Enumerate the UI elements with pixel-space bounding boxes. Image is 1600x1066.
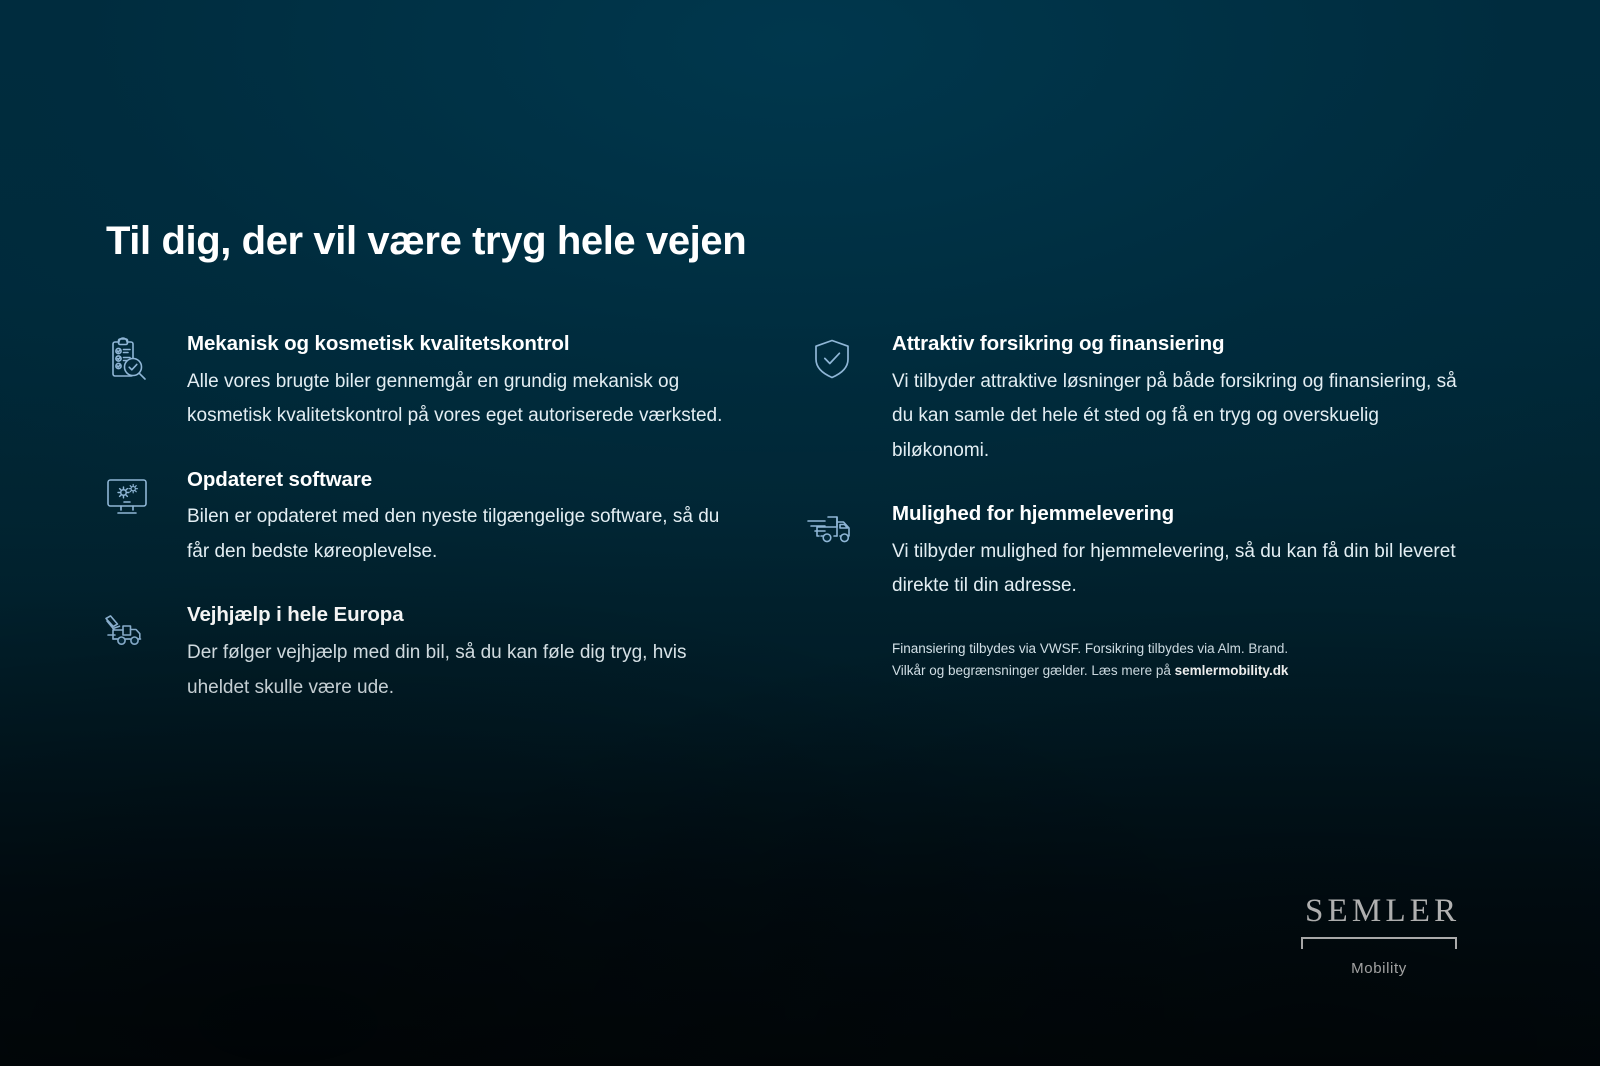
feature-updated-software: Opdateret software Bilen er opdateret me… <box>100 468 760 570</box>
feature-title: Attraktiv forsikring og finansiering <box>892 332 1500 356</box>
feature-body: Vejhjælp i hele Europa Der følger vejhjæ… <box>187 603 760 705</box>
fineprint-line-1: Finansiering tilbydes via VWSF. Forsikri… <box>892 638 1362 660</box>
feature-title: Vejhjælp i hele Europa <box>187 603 760 627</box>
feature-description: Bilen er opdateret med den nyeste tilgæn… <box>187 500 727 569</box>
features-column-right: Attraktiv forsikring og finansiering Vi … <box>800 332 1600 739</box>
logo-rule-tick-right <box>1455 937 1457 949</box>
feature-roadside-assistance: Vejhjælp i hele Europa Der følger vejhjæ… <box>100 603 760 705</box>
feature-home-delivery: Mulighed for hjemmelevering Vi tilbyder … <box>805 502 1500 604</box>
feature-title: Mulighed for hjemmelevering <box>892 502 1500 526</box>
logo-rule-bar <box>1301 937 1457 939</box>
features-column-left: Mekanisk og kosmetisk kvalitetskontrol A… <box>0 332 800 739</box>
fineprint-disclaimer: Finansiering tilbydes via VWSF. Forsikri… <box>892 638 1362 682</box>
tow-truck-icon <box>100 605 154 659</box>
feature-body: Attraktiv forsikring og finansiering Vi … <box>892 332 1500 468</box>
clipboard-check-magnifier-icon <box>100 334 154 388</box>
promo-banner: Til dig, der vil være tryg hele vejen <box>0 0 1600 1066</box>
features-grid: Mekanisk og kosmetisk kvalitetskontrol A… <box>0 332 1600 739</box>
feature-description: Vi tilbyder attraktive løsninger på både… <box>892 365 1472 469</box>
semlermobility-link[interactable]: semlermobility.dk <box>1175 663 1289 678</box>
feature-title: Opdateret software <box>187 468 760 492</box>
delivery-truck-icon <box>805 504 859 558</box>
shield-check-icon <box>805 334 859 388</box>
feature-description: Vi tilbyder mulighed for hjemmelevering,… <box>892 535 1472 604</box>
feature-description: Der følger vejhjælp med din bil, så du k… <box>187 636 727 705</box>
feature-quality-control: Mekanisk og kosmetisk kvalitetskontrol A… <box>100 332 760 434</box>
logo-wordmark: SEMLER <box>1301 895 1457 928</box>
monitor-gears-icon <box>100 470 154 524</box>
feature-description: Alle vores brugte biler gennemgår en gru… <box>187 365 727 434</box>
page-title: Til dig, der vil være tryg hele vejen <box>106 219 746 264</box>
feature-title: Mekanisk og kosmetisk kvalitetskontrol <box>187 332 760 356</box>
logo-rule <box>1301 937 1457 951</box>
logo-rule-tick-left <box>1301 937 1303 949</box>
feature-body: Mekanisk og kosmetisk kvalitetskontrol A… <box>187 332 760 434</box>
feature-insurance-financing: Attraktiv forsikring og finansiering Vi … <box>805 332 1500 468</box>
feature-body: Mulighed for hjemmelevering Vi tilbyder … <box>892 502 1500 604</box>
fineprint-line-2: Vilkår og begrænsninger gælder. Læs mere… <box>892 660 1362 682</box>
semler-mobility-logo: SEMLER Mobility <box>1301 895 1457 977</box>
feature-body: Opdateret software Bilen er opdateret me… <box>187 468 760 570</box>
fineprint-line-2-text: Vilkår og begrænsninger gælder. Læs mere… <box>892 663 1175 678</box>
logo-subtitle: Mobility <box>1301 960 1457 977</box>
